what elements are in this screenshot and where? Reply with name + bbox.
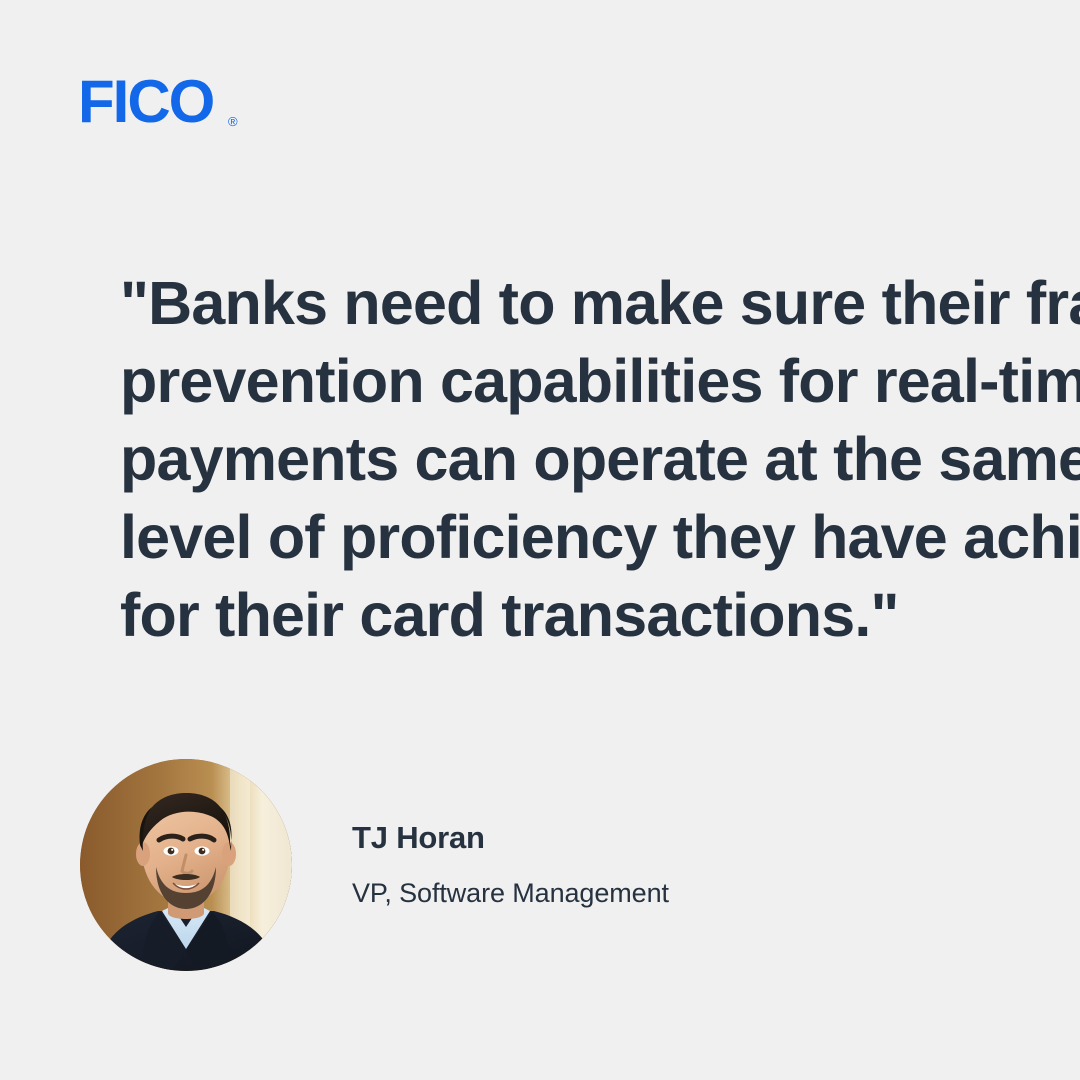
quote-line: "Banks need to make sure their fraud — [120, 264, 1050, 342]
quote-line: level of proficiency they have achieved — [120, 498, 1050, 576]
fico-logo-wordmark: FICO — [78, 74, 214, 134]
person-headshot-photo-icon — [80, 759, 292, 971]
attribution-block: TJ Horan VP, Software Management — [80, 757, 1000, 972]
person-name: TJ Horan — [352, 820, 669, 856]
registered-trademark-icon: ® — [228, 114, 238, 129]
quote-line: payments can operate at the same — [120, 420, 1050, 498]
person-title: VP, Software Management — [352, 878, 669, 909]
quote-text: "Banks need to make sure their fraud pre… — [120, 264, 1050, 654]
fico-logo-icon: FICO ® — [78, 74, 378, 134]
avatar — [80, 759, 292, 971]
quote-line: prevention capabilities for real-time — [120, 342, 1050, 420]
quote-line: for their card transactions." — [120, 576, 1050, 654]
attribution-text: TJ Horan VP, Software Management — [352, 820, 669, 909]
quote-card: FICO ® "Banks need to make sure their fr… — [0, 0, 1080, 1080]
